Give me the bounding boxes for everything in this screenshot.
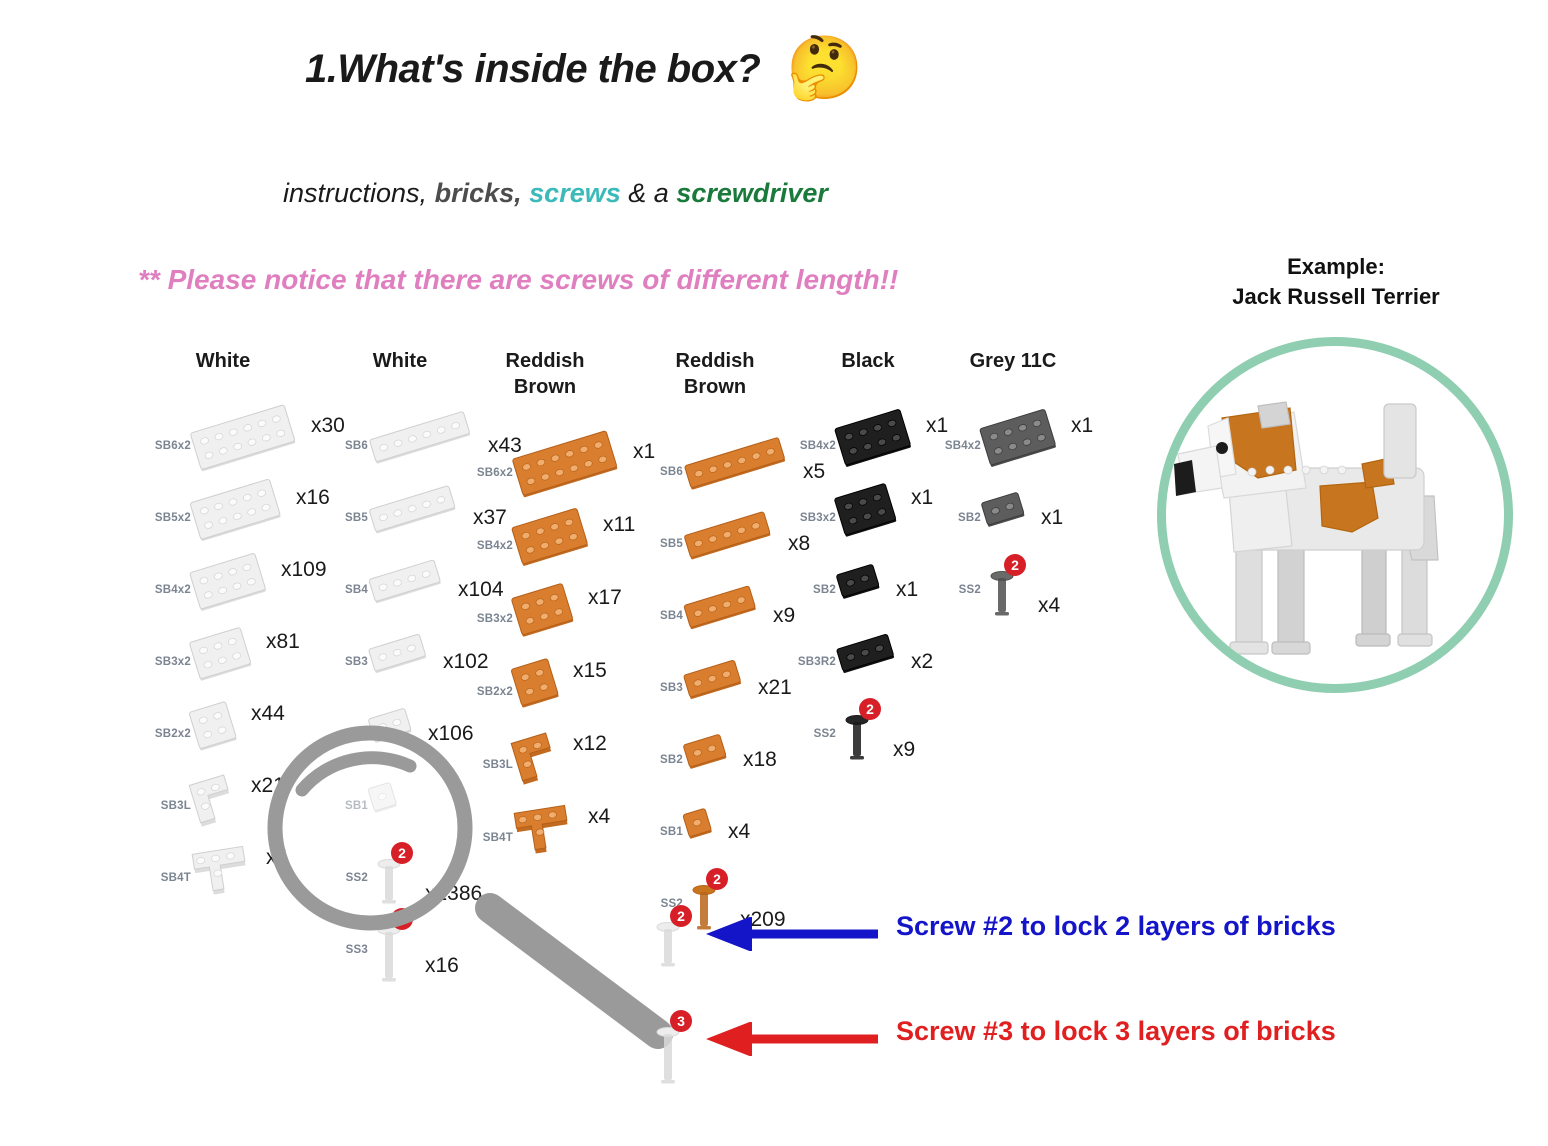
screw-glyph: 3 <box>371 908 431 988</box>
part-illustration <box>371 637 440 687</box>
part-code: SB4x2 <box>470 540 516 552</box>
part-illustration <box>839 414 923 479</box>
part-illustration <box>194 702 248 767</box>
subtitle-instructions: instructions, <box>283 178 427 208</box>
part-row[interactable]: SB4x2 x11 <box>470 509 655 582</box>
part-row[interactable]: SB3L x12 <box>470 728 655 801</box>
part-illustration <box>686 519 785 569</box>
parts-column-header: Grey 11C <box>938 348 1088 374</box>
brick-glyph-l <box>187 768 256 839</box>
brick-glyph <box>188 398 315 489</box>
part-quantity: x11 <box>603 513 635 537</box>
part-code: SS2 <box>793 728 839 740</box>
part-code: SB3L <box>148 800 194 812</box>
part-quantity: x4 <box>728 820 750 844</box>
brick-glyph <box>979 486 1044 545</box>
page-title-row: 1.What's inside the box? 🤔 <box>305 38 864 100</box>
legend-label: Screw #3 to lock 3 layers of bricks <box>896 1016 1336 1047</box>
part-code: SS3 <box>325 944 371 956</box>
brick-glyph <box>508 652 577 725</box>
parts-column-header: Black <box>793 348 943 374</box>
brick-glyph <box>832 403 930 485</box>
legend-screw-icon: 2 <box>650 905 696 978</box>
part-row[interactable]: SB4x2 x1 <box>793 410 948 482</box>
part-row[interactable]: SB3x2 x17 <box>470 582 655 655</box>
part-row[interactable]: SB2 x1 <box>793 554 948 626</box>
parts-column-header-line: Black <box>793 348 943 374</box>
part-code: SB3L <box>470 759 516 771</box>
part-illustration <box>371 493 470 543</box>
part-row[interactable]: SB4x2 x1 <box>938 410 1093 482</box>
part-quantity: x109 <box>281 558 327 582</box>
screw-glyph: 2 <box>839 698 899 766</box>
brick-glyph <box>509 502 607 584</box>
screw-glyph: 3 <box>650 1010 710 1090</box>
part-illustration: 2 <box>371 842 431 915</box>
jack-russell-terrier-illustration <box>1166 346 1504 684</box>
part-illustration <box>686 807 725 857</box>
part-illustration: 3 <box>371 908 431 993</box>
part-quantity: x81 <box>266 630 300 654</box>
page-title: 1.What's inside the box? <box>305 47 760 92</box>
part-code: SS2 <box>938 584 984 596</box>
part-illustration <box>371 421 485 471</box>
part-illustration <box>839 565 893 615</box>
screw-glyph: 2 <box>371 842 431 910</box>
part-row[interactable]: SB1 x4 <box>640 796 825 868</box>
brick-glyph <box>682 431 804 507</box>
parts-column-header-line: White <box>148 348 298 374</box>
svg-text:2: 2 <box>713 871 721 887</box>
svg-text:2: 2 <box>677 908 685 924</box>
instruction-sheet: 1.What's inside the box? 🤔 instructions,… <box>0 0 1548 1146</box>
svg-text:3: 3 <box>398 911 406 927</box>
part-illustration <box>194 414 308 479</box>
parts-column-1: WhiteSB6x2 x30SB5x2 x16SB4x2 x109SB3x2 x… <box>148 348 345 914</box>
brick-glyph <box>367 480 475 552</box>
part-code: SB3 <box>325 656 371 668</box>
part-quantity: x1 <box>1071 414 1093 438</box>
part-illustration <box>984 493 1038 543</box>
legend-screw-icon: 3 <box>650 1010 696 1095</box>
part-code: SB2x2 <box>148 728 194 740</box>
subtitle-bricks: bricks, <box>435 178 522 208</box>
part-code: SB5 <box>325 512 371 524</box>
parts-column-header-line: White <box>325 348 475 374</box>
subtitle-screwdriver: screwdriver <box>676 178 828 208</box>
part-quantity: x12 <box>573 732 607 756</box>
part-code: SB3 <box>640 682 686 694</box>
part-illustration <box>516 806 585 869</box>
part-row[interactable]: SB6x2 x1 <box>470 436 655 509</box>
parts-column-header: ReddishBrown <box>640 348 790 400</box>
example-dog-photo <box>1157 337 1513 693</box>
part-row[interactable]: SB6x2 x30 <box>148 410 345 482</box>
parts-column-5: BlackSB4x2 x1SB3x2 x1SB2 x1SB3R2 x2SS2 2… <box>793 348 948 770</box>
example-caption: Example: Jack Russell Terrier <box>1186 252 1486 311</box>
part-illustration <box>839 637 908 687</box>
part-code: SB4x2 <box>793 440 839 452</box>
svg-text:2: 2 <box>1011 557 1019 573</box>
parts-column-header: White <box>325 348 475 374</box>
part-row[interactable]: SB5x2 x16 <box>148 482 345 554</box>
legend-item: 3 Screw #3 to lock 3 layers of bricks <box>650 1010 1336 1095</box>
brick-glyph-l <box>509 726 578 797</box>
part-quantity: x4 <box>588 805 610 829</box>
part-row[interactable]: SS2 2 x9 <box>793 698 948 770</box>
brick-glyph <box>366 628 445 691</box>
part-illustration: 2 <box>984 554 1044 627</box>
brick-glyph <box>681 654 760 717</box>
parts-list: SB6x2 x30SB5x2 x16SB4x2 x109SB3x2 x81SB2… <box>148 410 345 914</box>
part-code: SB5x2 <box>148 512 194 524</box>
example-caption-line1: Example: <box>1186 252 1486 282</box>
part-illustration <box>194 847 263 910</box>
part-quantity: x4 <box>266 846 288 870</box>
part-code: SB3x2 <box>793 512 839 524</box>
part-quantity: x106 <box>428 722 474 746</box>
part-code: SB6 <box>325 440 371 452</box>
brick-glyph <box>187 621 271 699</box>
part-illustration <box>194 630 263 695</box>
svg-text:3: 3 <box>677 1013 685 1029</box>
svg-text:2: 2 <box>398 845 406 861</box>
part-code: SB3R2 <box>793 656 839 668</box>
brick-glyph <box>187 547 285 629</box>
part-code: SB4T <box>470 832 516 844</box>
part-code: SB4 <box>325 584 371 596</box>
brick-glyph <box>186 695 255 768</box>
part-illustration <box>516 733 570 796</box>
parts-column-header-line: Reddish <box>640 348 790 374</box>
part-quantity: x1386 <box>425 882 482 906</box>
part-code: SB2 <box>325 728 371 740</box>
screw-glyph: 2 <box>650 905 710 973</box>
brick-glyph <box>834 558 899 617</box>
part-row[interactable]: SB3R2 x2 <box>793 626 948 698</box>
part-illustration <box>516 513 600 578</box>
part-quantity: x18 <box>743 748 777 772</box>
brick-glyph-t <box>190 841 267 909</box>
parts-column-3: ReddishBrownSB6x2 x1SB4x2 x11SB3x2 x17SB… <box>470 348 655 874</box>
part-code: SB2 <box>938 512 984 524</box>
legend-label: Screw #2 to lock 2 layers of bricks <box>896 911 1336 942</box>
part-code: SB3x2 <box>470 613 516 625</box>
screw-length-notice: ** Please notice that there are screws o… <box>138 264 898 296</box>
part-illustration <box>194 775 248 838</box>
part-row[interactable]: SB4x2 x109 <box>148 554 345 626</box>
part-illustration <box>839 486 908 551</box>
part-code: SB6x2 <box>148 440 194 452</box>
part-code: SB5 <box>640 538 686 550</box>
parts-column-6: Grey 11CSB4x2 x1SB2 x1SS2 2 x4 <box>938 348 1093 626</box>
part-row[interactable]: SS3 3 x16 <box>325 914 522 986</box>
part-code: SB4T <box>148 872 194 884</box>
brick-glyph-t <box>512 801 589 869</box>
part-quantity: x9 <box>773 604 795 628</box>
subtitle-screws: screws <box>529 178 621 208</box>
part-illustration: 2 <box>839 698 899 771</box>
thinking-face-icon: 🤔 <box>786 38 863 100</box>
part-code: SS2 <box>325 872 371 884</box>
brick-glyph <box>366 702 431 761</box>
part-illustration <box>516 586 585 651</box>
parts-column-header-line: Reddish <box>470 348 620 374</box>
part-row[interactable]: SS2 2 x4 <box>938 554 1093 626</box>
part-quantity: x17 <box>588 586 622 610</box>
part-code: SB1 <box>325 800 371 812</box>
parts-column-header-line: Brown <box>470 374 620 400</box>
part-illustration <box>194 486 293 551</box>
part-code: SB6 <box>640 466 686 478</box>
part-illustration <box>984 414 1068 479</box>
example-caption-line2: Jack Russell Terrier <box>1186 282 1486 312</box>
part-illustration <box>686 591 770 641</box>
parts-list: SB4x2 x1SB3x2 x1SB2 x1SB3R2 x2SS2 2 x9 <box>793 410 948 770</box>
part-row[interactable]: SB2 x1 <box>938 482 1093 554</box>
part-code: SB2x2 <box>470 686 516 698</box>
brick-glyph <box>977 403 1075 485</box>
part-quantity: x1 <box>896 578 918 602</box>
brick-glyph <box>509 577 593 655</box>
part-illustration <box>516 440 630 505</box>
part-code: SB2 <box>793 584 839 596</box>
part-illustration <box>686 447 800 497</box>
part-row[interactable]: SB2x2 x44 <box>148 698 345 770</box>
part-row[interactable]: SB3x2 x81 <box>148 626 345 698</box>
part-quantity: x44 <box>251 702 285 726</box>
part-illustration <box>194 558 278 623</box>
part-quantity: x21 <box>758 676 792 700</box>
legend-arrow-icon <box>702 1022 882 1061</box>
screw-glyph: 2 <box>984 554 1044 622</box>
part-illustration <box>371 709 425 759</box>
legend-item: 2 Screw #2 to lock 2 layers of bricks <box>650 905 1336 978</box>
part-illustration <box>686 663 755 713</box>
parts-column-header: ReddishBrown <box>470 348 620 400</box>
parts-list: SB4x2 x1SB2 x1SS2 2 x4 <box>938 410 1093 626</box>
part-illustration <box>686 735 740 785</box>
part-illustration <box>371 781 410 831</box>
part-code: SB4x2 <box>148 584 194 596</box>
part-quantity: x21 <box>251 774 285 798</box>
part-row[interactable]: SB4T x4 <box>148 842 345 914</box>
part-quantity: x15 <box>573 659 607 683</box>
part-row[interactable]: SB3x2 x1 <box>793 482 948 554</box>
brick-glyph <box>365 776 415 830</box>
parts-column-header-line: Brown <box>640 374 790 400</box>
part-code: SB3x2 <box>148 656 194 668</box>
brick-glyph <box>680 802 730 856</box>
brick-glyph <box>682 506 790 578</box>
part-code: SB4x2 <box>938 440 984 452</box>
part-quantity: x1 <box>911 486 933 510</box>
part-code: SB1 <box>640 826 686 838</box>
brick-glyph <box>366 554 459 622</box>
part-code: SB4 <box>640 610 686 622</box>
brick-glyph <box>681 580 774 648</box>
part-row[interactable]: SB4T x4 <box>470 801 655 874</box>
legend-arrow-icon <box>702 917 882 956</box>
part-illustration <box>371 565 455 615</box>
part-row[interactable]: SB2x2 x15 <box>470 655 655 728</box>
parts-list: SB6x2 x1SB4x2 x11SB3x2 x17SB2x2 x15SB3L … <box>470 436 655 874</box>
part-illustration <box>516 659 570 724</box>
parts-column-header: White <box>148 348 298 374</box>
part-quantity: x1 <box>1041 506 1063 530</box>
contents-subtitle: instructions, bricks, screws & a screwdr… <box>283 178 828 209</box>
brick-glyph <box>832 477 916 555</box>
brick-glyph <box>681 728 746 787</box>
svg-text:2: 2 <box>866 701 874 717</box>
part-code: SB2 <box>640 754 686 766</box>
parts-column-header-line: Grey 11C <box>938 348 1088 374</box>
part-quantity: x2 <box>911 650 933 674</box>
brick-glyph <box>510 425 637 516</box>
part-row[interactable]: SB3L x21 <box>148 770 345 842</box>
part-code: SB6x2 <box>470 467 516 479</box>
brick-glyph <box>834 628 913 691</box>
subtitle-amp: & a <box>628 178 669 208</box>
brick-glyph <box>187 472 299 558</box>
